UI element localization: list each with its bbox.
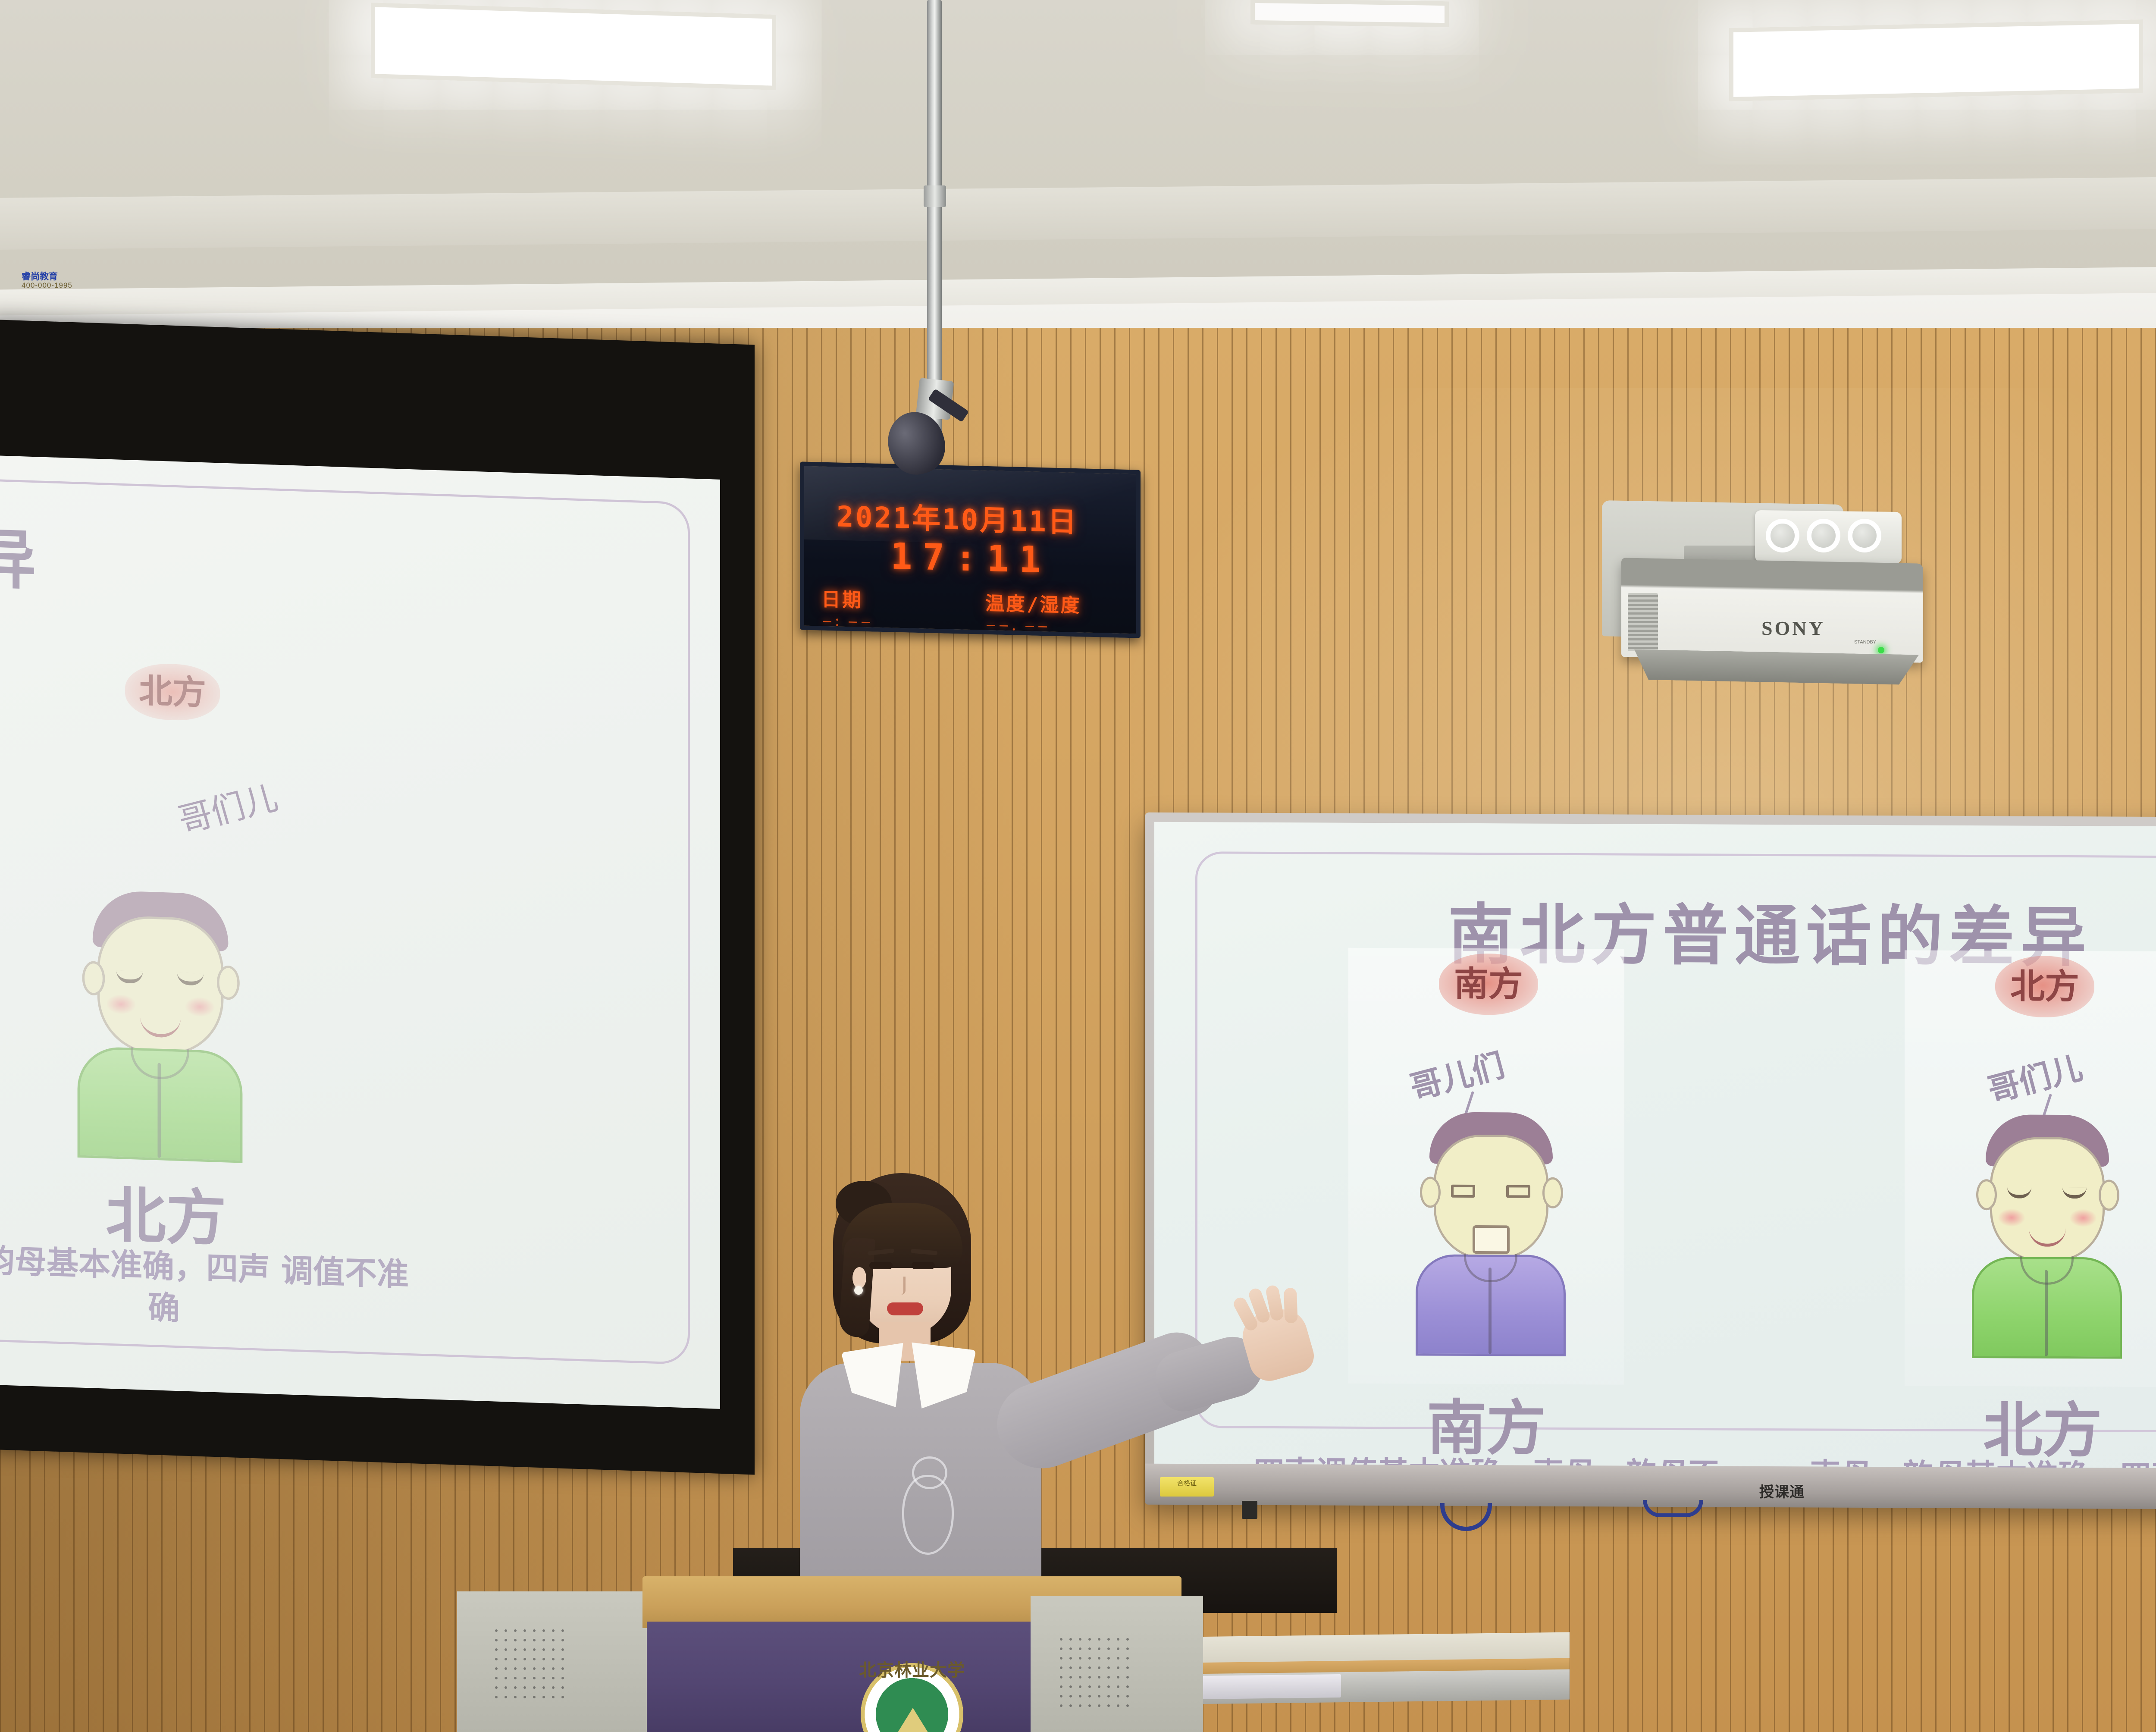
figure-ear-left [1420,1177,1441,1208]
figure-ear-right [2099,1180,2119,1211]
figure-ear-right [217,965,240,1000]
emblem-star-shape [895,1708,931,1732]
slide-stamp-south: 南方 [1439,954,1538,1015]
led-sub-right: －－．－－ [985,617,1050,635]
teacher-earring [854,1286,863,1295]
ceiling-light-panel-right [1729,19,2143,101]
whiteboard-tray-brand: 授课通 [1759,1480,1805,1501]
whiteboard-cable-loop-right [1643,1500,1703,1517]
projector-status-led [1878,647,1884,653]
left-slide-caption: 母、韵母基本准确，四声 调值不准确 [0,1238,418,1338]
cabinet-sticker-phone-text: 400-000-1995 [22,281,72,290]
figure-cheek-right [2069,1209,2097,1227]
whiteboard-projection-surface[interactable]: SERVICE NO.REGISTRATION 南北方普通话的差异 南方 哥儿们 [1154,822,2156,1470]
teacher-eye-left [869,1262,893,1269]
figure-cheek-left [1998,1208,2025,1227]
led-label-temp-humidity: 温度/湿度 [985,588,1081,618]
boom-pole-collar [924,185,946,207]
figure-eye-right [1506,1185,1530,1198]
figure-zipper [1489,1268,1492,1354]
led-sub-left: －：－－ [821,613,873,631]
teacher-sweater-motif [902,1475,954,1555]
projector-brand-logo: SONY [1761,617,1825,640]
figure-zipper [2045,1270,2048,1356]
projector-adjust-ring-2 [1807,519,1840,552]
figure-zipper [158,1063,161,1158]
podium-speaker-left-grille [492,1626,569,1704]
cabinet-sticker-brand-text: 睿尚教育 [22,270,58,282]
classroom-scene: 的差异 北方 哥们儿 北方 [0,0,2156,1732]
left-slide-figure [60,889,272,1163]
southern-speaker-cartoon [1400,1112,1581,1354]
teacher-eye-right [912,1262,935,1269]
projector-vent [1628,593,1658,651]
wall-shelf-slider[interactable] [1199,1674,1341,1699]
ceiling-boom-pole [927,0,942,440]
projector-bottom-shroud [1634,649,1919,685]
ceiling-light-panel-left [371,3,776,90]
projector-body [1621,558,1923,662]
projector-adjust-ring-3 [1848,519,1881,552]
left-projection-screen-frame: 的差异 北方 哥们儿 北方 [0,319,755,1475]
figure-ear-left [1976,1179,1997,1210]
projector-status-led-label: STANDBY [1854,640,1876,645]
projector-adjust-ring-1 [1766,519,1799,552]
teacher-ear [852,1267,866,1289]
ceiling-light-panel-center [1250,0,1449,27]
teacher-lips [887,1302,923,1315]
figure-ear-left [82,961,105,996]
led-information-board: 2021年10月11日 17:11 日期 温度/湿度 －：－－ －－．－－ [800,461,1141,638]
university-emblem-text: 北京林业大学 [841,1656,983,1681]
interactive-whiteboard[interactable]: SERVICE NO.REGISTRATION 南北方普通话的差异 南方 哥儿们 [1145,813,2156,1508]
northern-speaker-cartoon [1956,1114,2137,1357]
left-projection-screen-surface: 的差异 北方 哥们儿 北方 [0,455,720,1409]
podium-speaker-right-grille [1056,1635,1134,1712]
led-time-text: 17:11 [890,535,1051,581]
figure-mouth [1473,1225,1510,1254]
teacher-finger-4 [1284,1288,1298,1324]
led-date-text: 2021年10月11日 [837,493,1078,541]
led-label-date: 日期 [821,584,863,612]
left-slide-title-fragment: 的差异 [0,502,349,613]
slide-stamp-north: 北方 [1995,956,2094,1017]
figure-eye-left [1451,1185,1475,1198]
whiteboard-tray-clip-left [1242,1501,1257,1519]
teacher-nose [896,1277,906,1295]
figure-ear-right [1542,1177,1563,1208]
